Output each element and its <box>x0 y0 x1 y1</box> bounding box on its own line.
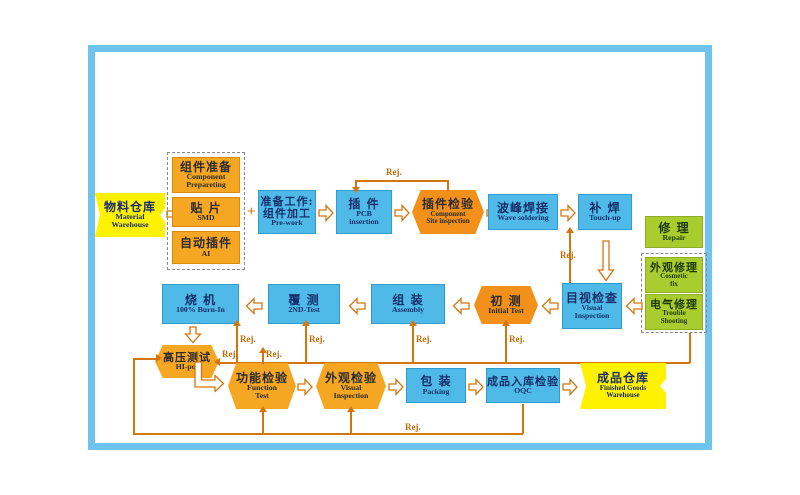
node-label-en: Assembly <box>392 306 424 314</box>
rej-label-insertion: Rej. <box>386 167 402 177</box>
rej-line-assembly <box>412 325 414 362</box>
node-label-en: Touch-up <box>589 214 621 222</box>
node-label-en: SMD <box>197 214 214 222</box>
arrow-function-to-visual2 <box>297 378 313 396</box>
flowchart-page: 开 关 电 源 生 产 流 程 图 Product Flow Chart For… <box>0 0 800 495</box>
node-label-cn: 自动插件 <box>180 237 232 250</box>
node-label-en2: insertion <box>349 218 378 226</box>
rej-line-oqc-down <box>522 404 524 434</box>
arrow-visual2-to-packing <box>388 378 404 396</box>
rej-arrowhead-assembly <box>409 320 417 326</box>
node-prework[interactable]: 准备工作: 组件加工 Pre-work <box>258 190 316 234</box>
rej-line-left-to-hipot <box>133 358 158 360</box>
node-touch-up[interactable]: 补 焊 Touch-up <box>578 194 632 230</box>
rej-label-2nd: Rej. <box>309 334 325 344</box>
node-finished-goods-warehouse[interactable]: 成品仓库 Finished Goods Warehouse <box>580 363 666 409</box>
node-component-site-inspection[interactable]: 插件检验 Component Site inspection <box>412 190 484 234</box>
rej-line-2nd <box>305 325 307 362</box>
node-component-prep[interactable]: 组件准备 Component Prepareting <box>172 157 240 193</box>
arrow-burnin-to-hipot <box>184 326 202 344</box>
node-label-en: 100% Burn-In <box>176 306 225 314</box>
arrow-initial-to-assembly <box>452 297 470 315</box>
node-pcb-insertion[interactable]: 插 件 PCB insertion <box>336 190 392 234</box>
rej-line-bottom-horizontal <box>133 433 523 435</box>
node-label-en: Packing <box>423 388 450 396</box>
node-visual-inspection-2[interactable]: 外观检验 Visual Inspection <box>316 363 386 409</box>
rej-line-visual2-down <box>350 410 352 434</box>
node-label-en: Repair <box>663 234 686 242</box>
node-label-en: AI <box>202 250 211 258</box>
node-label-cn: 包 装 <box>420 375 451 388</box>
node-label-en2: Warehouse <box>606 392 639 399</box>
node-trouble-shooting[interactable]: 电气修理 Trouble Shooting <box>645 294 703 330</box>
arrow-packing-to-oqc <box>468 378 484 396</box>
rej-label-bottom: Rej. <box>405 422 421 432</box>
rej-line-function-down <box>262 410 264 434</box>
arrow-touchup-to-visual <box>597 240 615 282</box>
rej-arrowhead-bottom-visual2 <box>347 406 355 412</box>
arrow-oqc-to-warehouse <box>562 378 578 396</box>
node-cosmetic-fix[interactable]: 外观修理 Cosmetic fix <box>645 257 703 293</box>
node-material-warehouse[interactable]: 物料仓库 Material Warehouse <box>95 193 165 237</box>
rej-arrowhead-initial <box>502 320 510 326</box>
rej-label-touchup: Rej. <box>560 250 576 260</box>
rej-arrowhead-pcb <box>352 187 360 193</box>
node-packing[interactable]: 包 装 Packing <box>406 368 466 403</box>
arrow-wave-to-touchup <box>560 204 576 222</box>
arrow-visual-to-initial <box>541 297 559 315</box>
arrow-prework-to-pcb <box>318 204 334 222</box>
rej-line-v-repair <box>689 333 691 363</box>
rej-line-function-up <box>262 352 264 364</box>
arrow-pcb-to-site <box>394 204 410 222</box>
node-second-test[interactable]: 覆 测 2ND-Test <box>268 284 340 324</box>
rej-arrowhead-bottom-function <box>259 406 267 412</box>
node-repair[interactable]: 修 理 Repair <box>645 216 703 248</box>
rej-arrowhead-2nd <box>302 320 310 326</box>
rej-label-assembly: Rej. <box>416 334 432 344</box>
node-label-en2: Site inspection <box>426 218 469 225</box>
rej-label-hipot: Rej. <box>222 349 238 359</box>
node-label-en: 2ND-Test <box>288 306 319 314</box>
node-label-en2: Shooting <box>661 318 687 325</box>
node-label-en2: Test <box>255 392 269 400</box>
node-ai[interactable]: 自动插件 AI <box>172 231 240 264</box>
rej-line-left-riser <box>133 358 135 434</box>
rej-arrowhead-touchup <box>566 227 574 233</box>
rej-label-burnin: Rej. <box>240 334 256 344</box>
node-initial-test[interactable]: 初 测 Initial Test <box>474 286 538 324</box>
node-label-en2: Inspection <box>334 392 369 400</box>
node-label-en2: fix <box>670 281 678 288</box>
node-label-en: Wave soldering <box>497 214 548 222</box>
arrow-assembly-to-2nd <box>348 297 366 315</box>
node-smd[interactable]: 贴 片 SMD <box>172 197 240 227</box>
rej-arrowhead-left-hipot <box>156 354 162 362</box>
rej-label-initial: Rej. <box>509 334 525 344</box>
node-burn-in[interactable]: 烧 机 100% Burn-In <box>162 284 239 324</box>
rej-arrowhead-burnin <box>233 320 241 326</box>
node-function-test[interactable]: 功能检验 Function Test <box>228 363 296 409</box>
node-label-en2: Prepareting <box>186 181 226 189</box>
node-label-en: Initial Test <box>488 307 524 315</box>
arrow-2nd-to-burnin <box>245 297 263 315</box>
node-assembly[interactable]: 组 装 Assembly <box>371 284 445 324</box>
plus-sign: + <box>247 204 256 221</box>
rej-label-function: Rej. <box>266 349 282 359</box>
rej-line-initial <box>505 325 507 362</box>
arrow-repair-to-visual <box>625 297 643 315</box>
node-label-en: Pre-work <box>271 219 302 227</box>
rej-line-h-insertion <box>355 180 448 182</box>
rej-line-v-site <box>447 180 449 191</box>
node-oqc[interactable]: 成品入库检验 OQC <box>486 368 560 403</box>
node-label-en: OQC <box>514 387 532 395</box>
node-label-en2: Warehouse <box>111 221 148 229</box>
node-visual-inspection[interactable]: 目视检查 Visual Inspection <box>562 283 622 329</box>
rej-arrowhead-hipot <box>214 358 220 366</box>
node-wave-soldering[interactable]: 波峰焊接 Wave soldering <box>488 194 558 230</box>
arrow-hipot-to-function <box>193 360 225 396</box>
node-label-en2: Inspection <box>575 312 610 320</box>
